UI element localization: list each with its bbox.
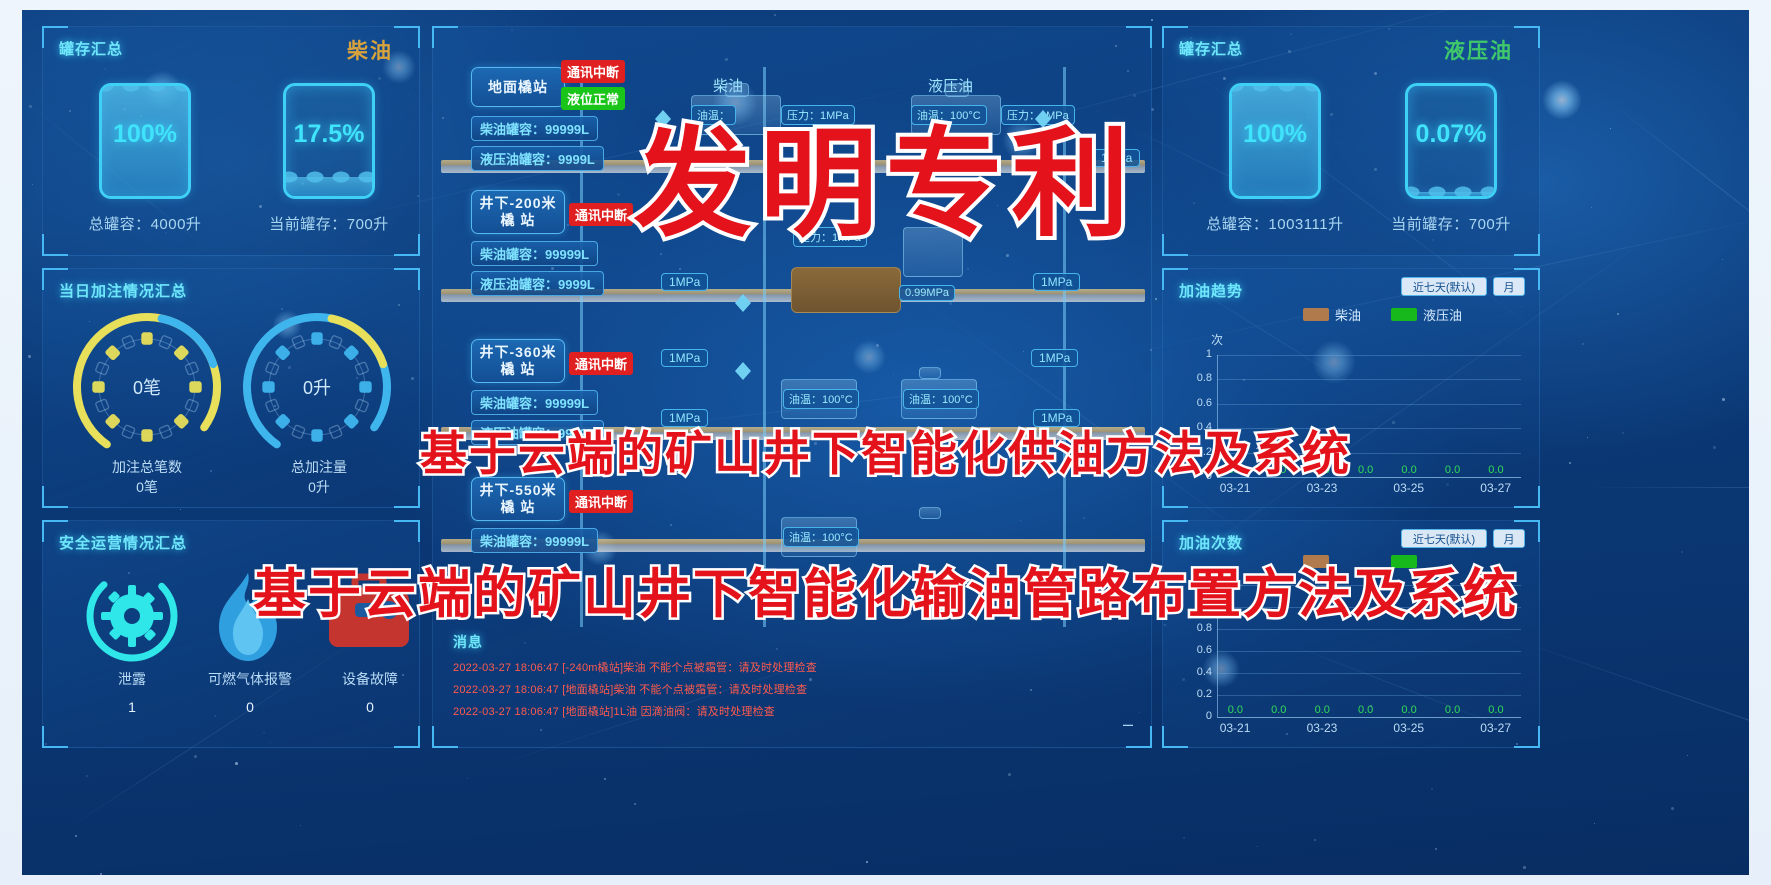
chart-xtick: 03-23 [1307, 721, 1338, 735]
safety-value-leak: 1 [75, 699, 189, 715]
tank-percent: 100% [102, 120, 188, 149]
panel-hydraulic-tank-summary: 罐存汇总 液压油 100% 总罐容：1003111升 0.07% 当前罐存：70… [1162, 26, 1540, 256]
chart-ytick: 0.4 [1186, 666, 1212, 678]
corner-decoration [1126, 26, 1152, 48]
station-cap-diesel: 柴油罐容：99999L [471, 390, 598, 415]
corner-decoration [1514, 234, 1540, 256]
panel-daily-refuel-summary: 当日加注情况汇总 0笔 加注总笔数 0笔 0升 总加注量 0升 [42, 268, 420, 508]
chart-ylabel: 次 [1211, 331, 1223, 348]
chart-data-label: 0.0 [1358, 704, 1373, 716]
chart-ytick: 0.6 [1186, 397, 1212, 409]
safety-value-fault: 0 [315, 699, 425, 715]
range-button-week[interactable]: 近七天(默认) [1401, 529, 1487, 548]
chart-data-label: 0.0 [1488, 464, 1503, 476]
safety-label-leak: 泄露 [75, 669, 189, 689]
pressure-tag: 1MPa [661, 349, 708, 367]
gauge-label-count: 加注总笔数 0笔 [61, 457, 233, 497]
panel-title-refuel: 当日加注情况汇总 [59, 280, 187, 301]
pressure-tag: 1MPa [1033, 273, 1080, 291]
chart-xtick: 03-27 [1480, 721, 1511, 735]
legend-label-hydraulic: 液压油 [1423, 305, 1462, 324]
station-badge-comm: 通讯中断 [569, 490, 633, 513]
corner-decoration [394, 268, 420, 290]
corner-decoration [42, 234, 68, 256]
legend-hydraulic[interactable]: 液压油 [1391, 305, 1462, 324]
chart-xtick: 03-25 [1393, 721, 1424, 735]
tank-percent: 100% [1232, 120, 1318, 149]
corner-decoration [1162, 234, 1188, 256]
message-item[interactable]: 2022-03-27 18:06:47 [地面橇站]柴油 不能个点被霜管：请及时… [453, 681, 807, 697]
station-ground[interactable]: 地面橇站 [471, 67, 565, 107]
station-badge-level: 液位正常 [561, 87, 625, 110]
gauge-label-volume: 总加注量 0升 [233, 457, 405, 497]
message-item[interactable]: 2022-03-27 18:06:47 [地面橇站]1L油 因滴油阀：请及时处理… [453, 703, 775, 719]
legend-swatch-hydraulic [1391, 308, 1417, 321]
corner-decoration [394, 520, 420, 542]
corner-decoration [42, 726, 68, 748]
tank-gauge: 0.07% [1405, 83, 1497, 199]
station-minus360[interactable]: 井下-360米 橇 站 [471, 339, 565, 383]
station-badge-comm: 通讯中断 [569, 203, 633, 226]
chart-data-label: 0.0 [1271, 704, 1286, 716]
pressure-tag: 1MPa [661, 273, 708, 291]
tank-caption: 总罐容：1003111升 [1205, 213, 1345, 234]
tank-fill [1408, 192, 1494, 196]
tank-caption: 当前罐存：700升 [259, 213, 399, 234]
tank-gauge: 100% [99, 83, 191, 199]
station-badge-comm: 通讯中断 [561, 60, 625, 83]
corner-decoration [394, 234, 420, 256]
gear-icon [85, 569, 179, 668]
watermark-patent-title: 发明专利 [633, 88, 1137, 259]
station-cap-diesel: 柴油罐容：99999L [471, 241, 598, 266]
detail-pressure-low: 0.99MPa [899, 285, 955, 301]
legend-swatch-diesel [1303, 308, 1329, 321]
tank-gauge: 100% [1229, 83, 1321, 199]
message-item[interactable]: 2022-03-27 18:06:47 [-240m橇站]柴油 不能个点被霜管：… [453, 659, 817, 675]
detail-oil-temp: 油温：100°C [783, 527, 859, 547]
corner-decoration [1514, 26, 1540, 48]
chart-xtick: 03-25 [1393, 481, 1424, 495]
corner-decoration [394, 726, 420, 748]
gauge-refuel-volume: 0升 [241, 311, 393, 463]
tank-total-diesel: 100% 总罐容：4000升 [85, 83, 205, 234]
chart-ytick: 0.2 [1186, 688, 1212, 700]
station-cap-hydraulic: 液压油罐容：9999L [471, 146, 604, 171]
chart-gridline [1217, 695, 1521, 696]
safety-label-fault: 设备故障 [315, 669, 425, 689]
safety-label-gas: 可燃气体报警 [191, 669, 309, 689]
tank-gauge: 17.5% [283, 83, 375, 199]
chart-data-label: 0.0 [1315, 704, 1330, 716]
corner-decoration [394, 26, 420, 48]
panel-title-refuel-trend: 加油趋势 [1179, 280, 1243, 301]
panel-subject-diesel: 柴油 [347, 35, 393, 65]
chart-gridline [1217, 629, 1521, 630]
legend-diesel[interactable]: 柴油 [1303, 305, 1361, 324]
station-cap-diesel: 柴油罐容：99999L [471, 116, 598, 141]
chart-gridline [1217, 355, 1521, 356]
chart-data-label: 0.0 [1358, 464, 1373, 476]
gauge-value: 0升 [241, 311, 393, 463]
chart-gridline [1217, 379, 1521, 380]
chart-gridline [1217, 673, 1521, 674]
chart-xtick: 03-21 [1220, 721, 1251, 735]
chart-data-label: 0.0 [1488, 704, 1503, 716]
chart-data-label: 0.0 [1445, 704, 1460, 716]
gauge-refuel-count: 0笔 [71, 311, 223, 463]
range-button-week[interactable]: 近七天(默认) [1401, 277, 1487, 296]
equipment-cap [919, 507, 941, 519]
tank-percent: 17.5% [286, 120, 372, 149]
minimize-icon[interactable]: ‒ [1123, 714, 1133, 735]
station-badge-comm: 通讯中断 [569, 352, 633, 375]
safety-value-gas: 0 [191, 699, 309, 715]
tank-total-hydraulic: 100% 总罐容：1003111升 [1205, 83, 1345, 234]
tank-percent: 0.07% [1408, 120, 1494, 149]
chart-gridline [1217, 651, 1521, 652]
station-minus200[interactable]: 井下-200米 橇 站 [471, 190, 565, 234]
chart-xtick: 03-27 [1480, 481, 1511, 495]
chart-data-label: 0.0 [1445, 464, 1460, 476]
station-cap-diesel: 柴油罐容：99999L [471, 528, 598, 553]
panel-title-hydraulic-tank: 罐存汇总 [1179, 38, 1243, 59]
panel-diesel-tank-summary: 罐存汇总 柴油 100% 总罐容：4000升 17.5% 当前罐存：700升 [42, 26, 420, 256]
legend-label-diesel: 柴油 [1335, 305, 1361, 324]
corner-decoration [432, 726, 458, 748]
range-button-month[interactable]: 月 [1493, 277, 1525, 296]
gauge-value: 0笔 [71, 311, 223, 463]
tank-current-hydraulic: 0.07% 当前罐存：700升 [1381, 83, 1521, 234]
chart-xaxis [1217, 717, 1521, 718]
tank-caption: 当前罐存：700升 [1381, 213, 1521, 234]
tank-current-diesel: 17.5% 当前罐存：700升 [259, 83, 399, 234]
chart-data-label: 0.0 [1228, 704, 1243, 716]
range-button-month[interactable]: 月 [1493, 529, 1525, 548]
messages-title: 消息 [453, 632, 483, 652]
pressure-tag: 1MPa [1031, 349, 1078, 367]
chart-ytick: 0.6 [1186, 644, 1212, 656]
chart-gridline [1217, 404, 1521, 405]
dashboard-screen: 罐存汇总 柴油 100% 总罐容：4000升 17.5% 当前罐存：700升 [22, 10, 1749, 875]
watermark-line-1: 基于云端的矿山井下智能化供油方法及系统 [420, 415, 1351, 484]
chart-ytick: 0.8 [1186, 372, 1212, 384]
station-cap-hydraulic: 液压油罐容：9999L [471, 271, 604, 296]
panel-title-diesel-tank: 罐存汇总 [59, 38, 123, 59]
chart-ytick: 1 [1186, 348, 1212, 360]
corner-decoration [432, 26, 458, 48]
watermark-line-2: 基于云端的矿山井下智能化输油管路布置方法及系统 [253, 552, 1518, 628]
tank-fill [286, 177, 372, 196]
detail-oil-temp: 油温：100°C [783, 389, 859, 409]
chart-ytick: 0 [1186, 710, 1212, 722]
oil-reservoir [791, 267, 901, 313]
panel-subject-hydraulic: 液压油 [1444, 35, 1513, 65]
equipment-cap [919, 367, 941, 379]
dashboard-root: 罐存汇总 柴油 100% 总罐容：4000升 17.5% 当前罐存：700升 [0, 0, 1771, 885]
chart-data-label: 0.0 [1401, 704, 1416, 716]
panel-title-safety: 安全运营情况汇总 [59, 532, 187, 553]
tank-caption: 总罐容：4000升 [85, 213, 205, 234]
chart-data-label: 0.0 [1401, 464, 1416, 476]
panel-title-refuel-count: 加油次数 [1179, 532, 1243, 553]
detail-oil-temp: 油温：100°C [903, 389, 979, 409]
